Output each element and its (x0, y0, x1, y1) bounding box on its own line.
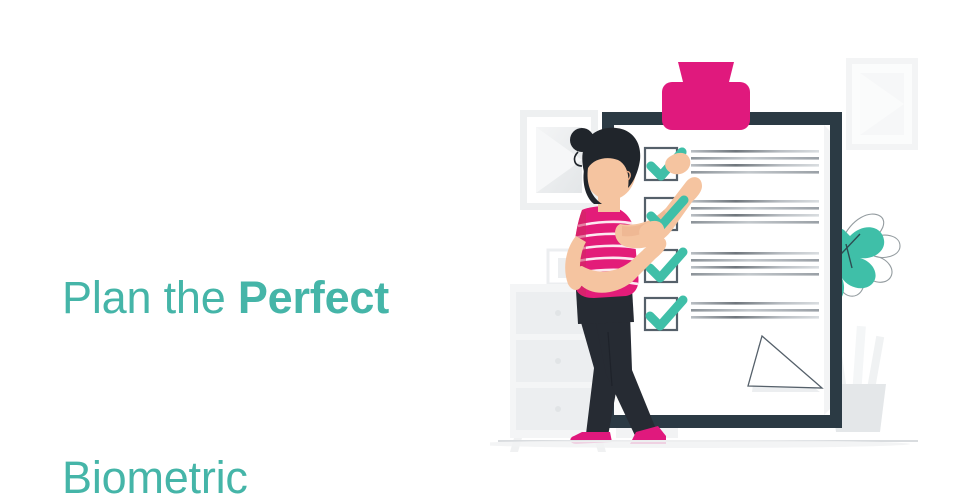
item-text-lines-4 (691, 302, 819, 319)
headline-line-1-plain: Plan the (62, 272, 238, 323)
page-title: Plan the Perfect Biometric Screening Eve… (62, 148, 522, 502)
clipboard-clip-icon (662, 62, 750, 130)
banner-root: Plan the Perfect Biometric Screening Eve… (0, 0, 960, 502)
floor-line (490, 440, 918, 448)
headline-line-2: Biometric (62, 448, 522, 502)
headline-emphasis-perfect: Perfect (238, 272, 389, 323)
hero-illustration (490, 40, 960, 480)
headline-line-1: Plan the Perfect (62, 268, 522, 328)
picture-frame-right-icon (846, 58, 918, 150)
person-hair-bun-icon (570, 128, 594, 152)
